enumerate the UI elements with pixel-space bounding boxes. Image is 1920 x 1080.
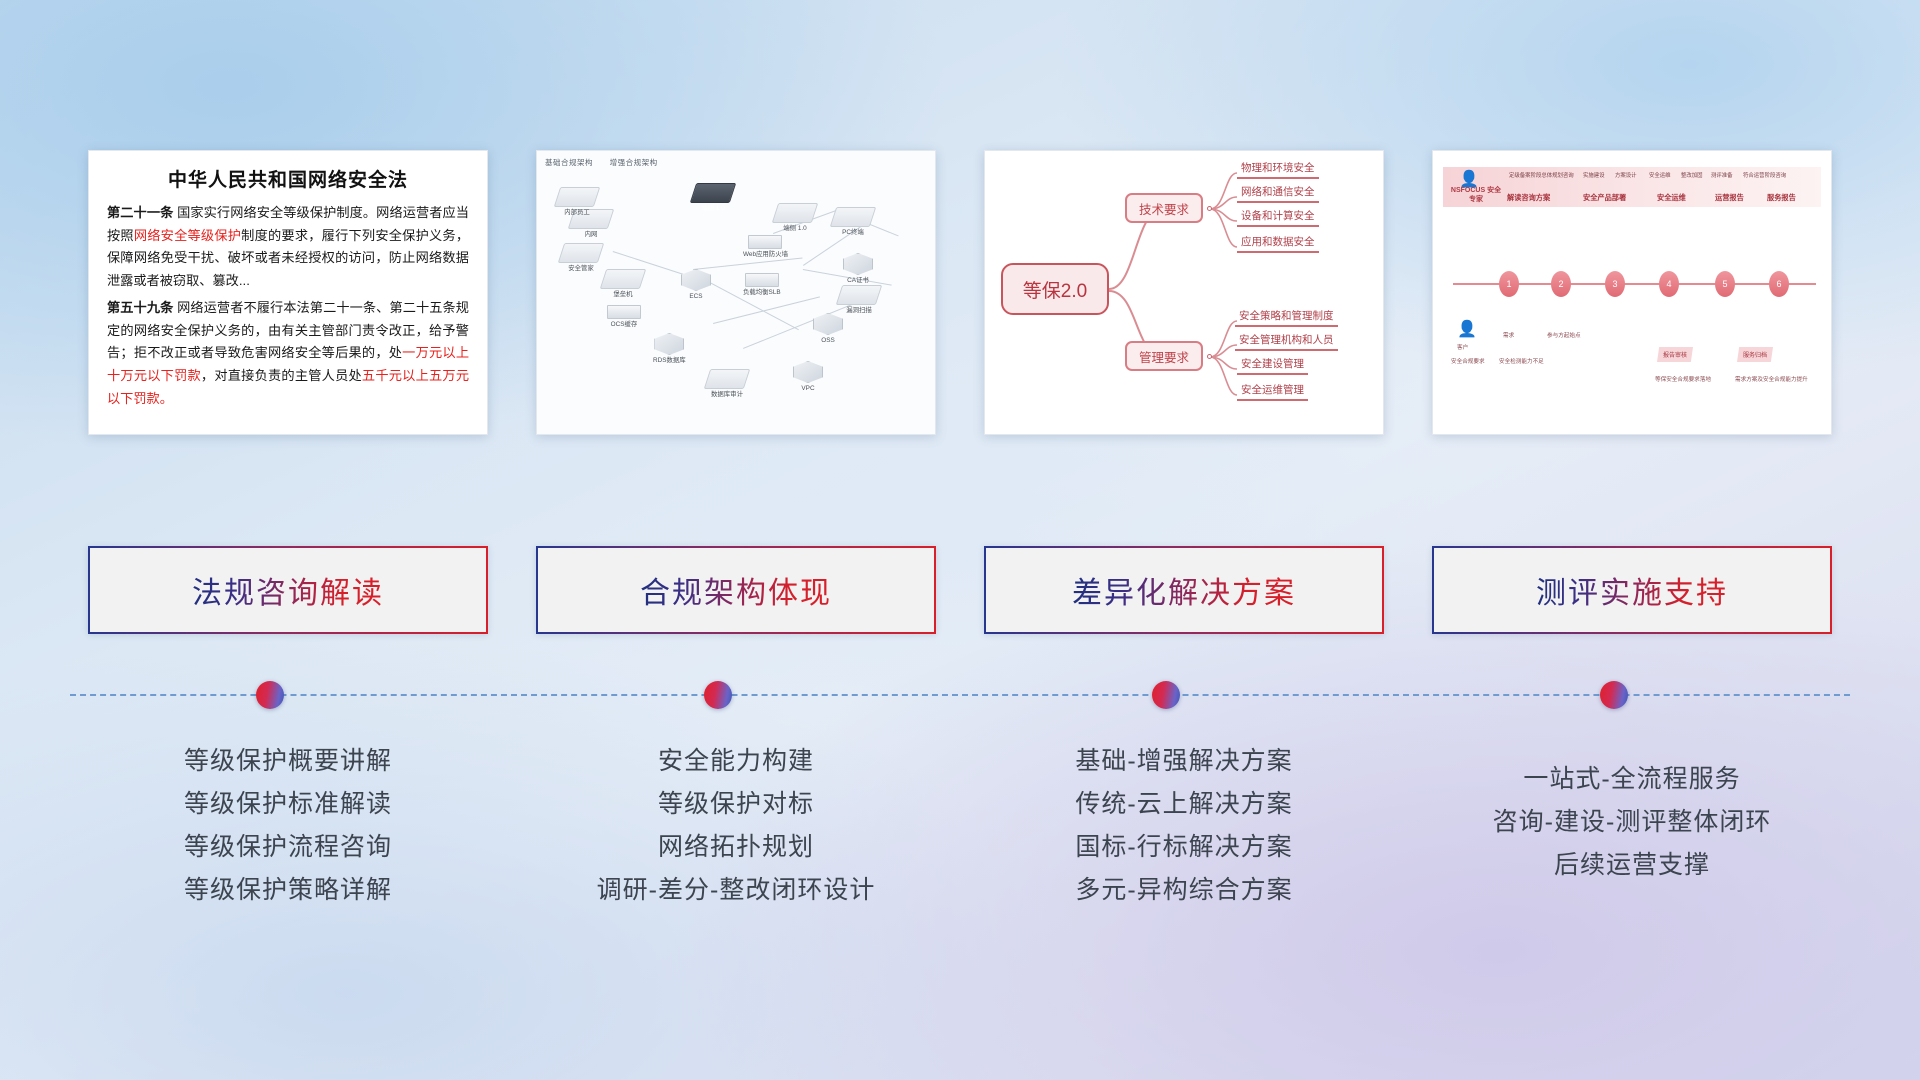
mindmap-leaf: 安全建设管理 — [1237, 355, 1308, 375]
arch-node-rds: RDS数据库 — [653, 333, 686, 365]
arch-node-ocs: OCS缓存 — [607, 305, 641, 329]
detail-column-4: 一站式-全流程服务 咨询-建设-测评整体闭环 后续运营支撑 — [1432, 740, 1832, 970]
roadmap-step: 4 — [1659, 271, 1679, 297]
pillar-label: 法规咨询解读 — [192, 568, 384, 612]
pillar-button-evaluation-support[interactable]: 测评实施支持 — [1432, 546, 1832, 634]
expert-person-icon: 👤 — [1459, 169, 1479, 189]
detail-item: 传统-云上解决方案 — [984, 783, 1384, 826]
illustration-cards-row: 中华人民共和国网络安全法 第二十一条 国家实行网络安全等级保护制度。网络运营者应… — [0, 150, 1920, 440]
arch-node-duanci: 端侧 1.0 — [693, 183, 733, 213]
detail-item: 安全能力构建 — [536, 740, 936, 783]
roadmap-top-label: 实施建设 — [1583, 171, 1605, 179]
card-cybersecurity-law: 中华人民共和国网络安全法 第二十一条 国家实行网络安全等级保护制度。网络运营者应… — [88, 150, 488, 435]
roadmap-step: 1 — [1499, 271, 1519, 297]
roadmap-top-label: 安全运维 — [1649, 171, 1671, 179]
roadmap-left-icon-label: 客户 — [1457, 343, 1468, 351]
detail-column-2: 安全能力构建 等级保护对标 网络拓扑规划 调研-差分-整改闭环设计 — [536, 740, 936, 970]
arch-node-neibuyuangong: 内部员工 — [557, 187, 597, 217]
arch-node-duanceceng: 端侧 1.0 — [775, 203, 815, 233]
roadmap-phase: 安全运维 — [1657, 193, 1686, 203]
law-article-21-label: 第二十一条 — [107, 205, 173, 220]
detail-item: 后续运营支撑 — [1432, 844, 1832, 887]
roadmap-top-label: 符合运营阶段咨询 — [1743, 171, 1786, 179]
card-nsfocus-roadmap: 👤 NSFOCUS 安全专家 定级备案阶段总体规划咨询 实施建设 方案设计 安全… — [1432, 150, 1832, 435]
mindmap-leaf: 安全运维管理 — [1237, 381, 1308, 401]
law-article-59-label: 第五十九条 — [107, 300, 173, 315]
detail-columns-row: 等级保护概要讲解 等级保护标准解读 等级保护流程咨询 等级保护策略详解 安全能力… — [0, 740, 1920, 970]
law-article-21-text-red: 网络安全等级保护 — [134, 228, 241, 243]
pillar-buttons-row: 法规咨询解读 合规架构体现 差异化解决方案 测评实施支持 — [0, 546, 1920, 636]
architecture-header-tabs: 基础合规架构 增强合规架构 — [545, 157, 672, 168]
roadmap-top-label: 整改加固 — [1681, 171, 1703, 179]
detail-item: 等级保护对标 — [536, 783, 936, 826]
roadmap-step: 3 — [1605, 271, 1625, 297]
arch-node-oss: OSS — [813, 313, 843, 345]
arch-node-loudongsaomiao: 漏洞扫描 — [839, 285, 879, 315]
roadmap-bottom-tag: 报告审核 — [1657, 347, 1693, 362]
roadmap-bottom-tag: 服务归档 — [1737, 347, 1773, 362]
roadmap-step: 2 — [1551, 271, 1571, 297]
detail-item: 基础-增强解决方案 — [984, 740, 1384, 783]
roadmap-step: 5 — [1715, 271, 1735, 297]
pillar-button-regulation-consulting[interactable]: 法规咨询解读 — [88, 546, 488, 634]
detail-item: 调研-差分-整改闭环设计 — [536, 869, 936, 912]
roadmap-inner: 👤 NSFOCUS 安全专家 定级备案阶段总体规划咨询 实施建设 方案设计 安全… — [1443, 161, 1821, 424]
timeline-dot-3[interactable] — [1152, 681, 1180, 709]
mindmap-branch-technical: 技术要求 — [1125, 193, 1203, 223]
detail-item: 等级保护标准解读 — [88, 783, 488, 826]
mindmap-collapse-icon[interactable] — [1207, 354, 1212, 359]
mindmap-leaf: 网络和通信安全 — [1237, 183, 1319, 203]
roadmap-top-label: 定级备案阶段总体规划咨询 — [1509, 171, 1574, 179]
arch-node-slb: 负载均衡SLB — [743, 273, 781, 297]
architecture-tab-enhanced: 增强合规架构 — [610, 158, 658, 167]
arch-node-vpc: VPC — [793, 361, 823, 393]
detail-item: 多元-异构综合方案 — [984, 869, 1384, 912]
architecture-canvas: 端侧 1.0 内网 安全管家 堡垒机 端侧 1.0 Web应用防火墙 PC终端 … — [543, 173, 929, 428]
arch-node-waf: Web应用防火墙 — [743, 235, 788, 259]
arch-link — [713, 296, 820, 324]
roadmap-left-note: 等保安全合规要求落地 — [1655, 375, 1711, 383]
detail-column-1: 等级保护概要讲解 等级保护标准解读 等级保护流程咨询 等级保护策略详解 — [88, 740, 488, 970]
pillar-label: 测评实施支持 — [1536, 568, 1728, 612]
customer-person-icon: 👤 — [1457, 319, 1477, 339]
detail-item: 国标-行标解决方案 — [984, 826, 1384, 869]
arch-node-anquanguanjia: 安全管家 — [561, 243, 601, 273]
roadmap-left-note: 安全合规要求 — [1451, 357, 1485, 365]
card-compliance-architecture: 基础合规架构 增强合规架构 端侧 1.0 内网 安全管家 堡垒机 — [536, 150, 936, 435]
detail-item: 网络拓扑规划 — [536, 826, 936, 869]
mindmap-collapse-icon[interactable] — [1207, 206, 1212, 211]
timeline-dashed-line — [70, 694, 1850, 696]
detail-item: 等级保护流程咨询 — [88, 826, 488, 869]
mindmap-leaf: 应用和数据安全 — [1237, 233, 1319, 253]
roadmap-top-label: 测评准备 — [1711, 171, 1733, 179]
law-article-59-text-b: ，对直接负责的主管人员处 — [201, 368, 362, 383]
pillar-button-compliance-architecture[interactable]: 合规架构体现 — [536, 546, 936, 634]
roadmap-left-icon-label: 参与方起始点 — [1547, 331, 1581, 339]
detail-item: 咨询-建设-测评整体闭环 — [1432, 801, 1832, 844]
roadmap-phase: 运营报告 — [1715, 193, 1744, 203]
timeline-dot-1[interactable] — [256, 681, 284, 709]
mindmap-root-node: 等保2.0 — [1001, 263, 1109, 315]
detail-item: 一站式-全流程服务 — [1432, 758, 1832, 801]
card-mindmap-dengbao: 等保2.0 技术要求 物理和环境安全 网络和通信安全 设备和计算安全 应用和数据… — [984, 150, 1384, 435]
arch-node-pc: PC终端 — [833, 207, 873, 237]
mindmap-branch-management: 管理要求 — [1125, 341, 1203, 371]
mindmap-leaf: 安全管理机构和人员 — [1235, 331, 1338, 351]
roadmap-phase: 安全产品部署 — [1583, 193, 1626, 203]
roadmap-left-note: 需求方案及安全合规能力提升 — [1735, 375, 1808, 383]
pillar-button-differentiated-solution[interactable]: 差异化解决方案 — [984, 546, 1384, 634]
arch-node-ca: CA证书 — [843, 253, 873, 285]
nsfocus-brand-label: NSFOCUS 安全专家 — [1449, 187, 1503, 205]
roadmap-top-label: 方案设计 — [1615, 171, 1637, 179]
roadmap-phase: 服务报告 — [1767, 193, 1796, 203]
mindmap-leaf: 安全策略和管理制度 — [1235, 307, 1338, 327]
detail-item: 等级保护概要讲解 — [88, 740, 488, 783]
arch-node-ecs: ECS — [681, 269, 711, 301]
arch-node-shujukushenji: 数据库审计 — [707, 369, 747, 399]
law-card-title: 中华人民共和国网络安全法 — [107, 165, 469, 192]
law-article-59: 第五十九条 网络运营者不履行本法第二十一条、第二十五条规定的网络安全保护义务的，… — [107, 297, 469, 411]
roadmap-left-icon-label: 需求 — [1503, 331, 1514, 339]
pillar-label: 合规架构体现 — [640, 568, 832, 612]
architecture-tab-basic: 基础合规架构 — [545, 158, 593, 167]
timeline-dot-4[interactable] — [1600, 681, 1628, 709]
detail-item: 等级保护策略详解 — [88, 869, 488, 912]
law-article-21: 第二十一条 国家实行网络安全等级保护制度。网络运营者应当按照网络安全等级保护制度… — [107, 202, 469, 293]
mindmap-leaf: 设备和计算安全 — [1237, 207, 1319, 227]
roadmap-left-note: 安全检测能力不足 — [1499, 357, 1544, 365]
pillar-label: 差异化解决方案 — [1072, 568, 1296, 612]
detail-column-3: 基础-增强解决方案 传统-云上解决方案 国标-行标解决方案 多元-异构综合方案 — [984, 740, 1384, 970]
arch-node-baoleiji: 堡垒机 — [603, 269, 643, 299]
roadmap-step: 6 — [1769, 271, 1789, 297]
roadmap-phase: 解读咨询方案 — [1507, 193, 1550, 203]
mindmap-leaf: 物理和环境安全 — [1237, 159, 1319, 179]
timeline-dot-2[interactable] — [704, 681, 732, 709]
